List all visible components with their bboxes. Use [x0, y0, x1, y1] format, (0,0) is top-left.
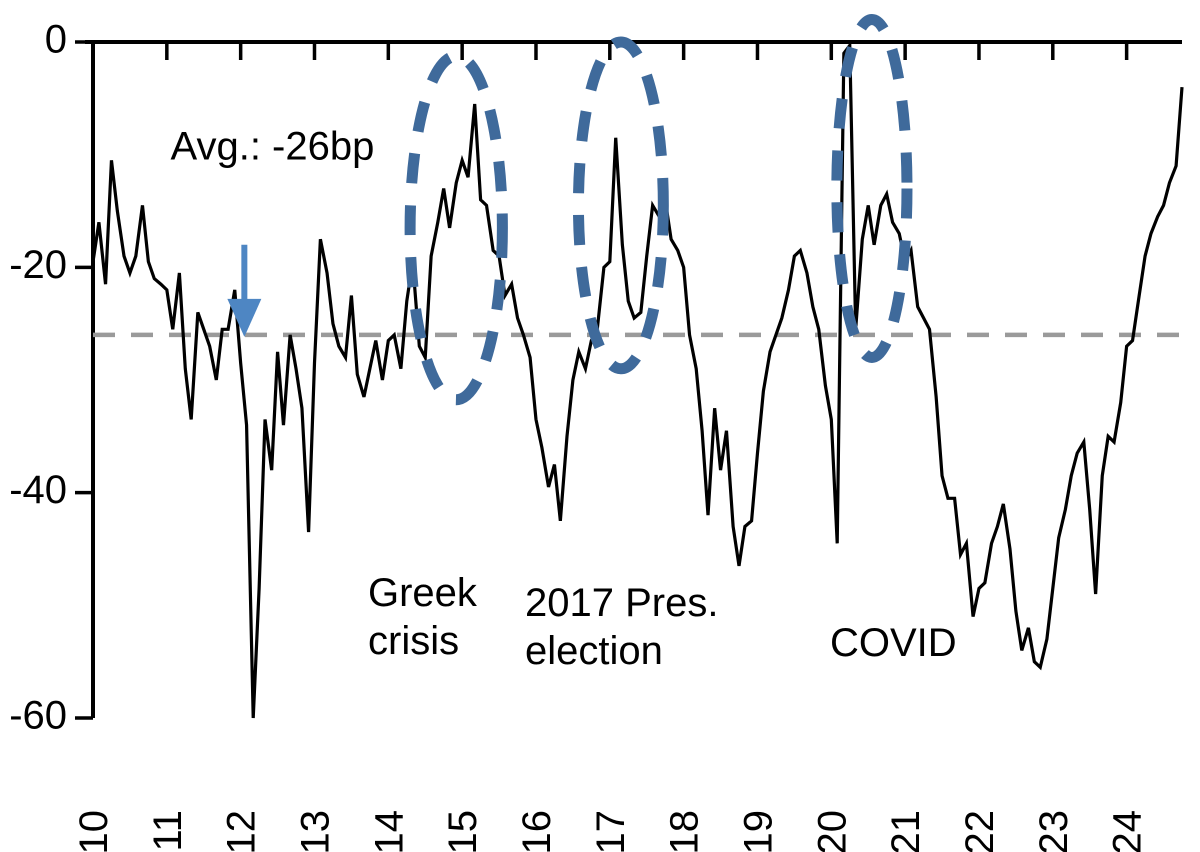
x-tick-label: 2015: [441, 810, 485, 852]
annotation-label-line: Greek: [368, 571, 478, 615]
x-tick-label: 2014: [367, 810, 411, 852]
annotation-label-line: COVID: [830, 621, 957, 665]
annotation-label-line: 2017 Pres.: [525, 581, 718, 625]
x-tick-label: 2013: [293, 810, 337, 852]
y-tick-label: -20: [9, 243, 67, 287]
x-tick-label: 2024: [1106, 810, 1150, 852]
y-tick-label: 0: [45, 18, 67, 62]
arrow-head-icon: [227, 299, 261, 337]
annotation-label-pres-election-2017: 2017 Pres.election: [525, 581, 718, 673]
annotation-ellipse-covid: [837, 19, 907, 357]
annotation-label-greek-crisis: Greekcrisis: [368, 571, 478, 663]
annotation-label-line: crisis: [368, 619, 459, 663]
y-tick-label: -40: [9, 468, 67, 512]
average-callout-label: Avg.: -26bp: [171, 125, 375, 169]
x-tick-label: 2022: [958, 810, 1002, 852]
annotation-label-line: election: [525, 629, 663, 673]
x-tick-label: 2021: [884, 810, 928, 852]
x-tick-label: 2011: [146, 810, 190, 852]
x-tick-label: 2010: [72, 810, 116, 852]
x-tick-label: 2012: [220, 810, 264, 852]
annotation-label-covid: COVID: [830, 621, 957, 665]
x-tick-label: 2023: [1032, 810, 1076, 852]
x-tick-label: 2020: [810, 810, 854, 852]
x-tick-label: 2018: [663, 810, 707, 852]
x-tick-label: 2019: [736, 810, 780, 852]
average-arrow-annotation: [227, 245, 261, 337]
y-tick-label: -60: [9, 694, 67, 738]
x-tick-label: 2017: [589, 810, 633, 852]
annotation-ellipse-layer: [410, 19, 907, 399]
x-tick-label: 2016: [515, 810, 559, 852]
chart-container: Greekcrisis2017 Pres.electionCOVIDAvg.: …: [0, 0, 1200, 852]
line-chart: Greekcrisis2017 Pres.electionCOVIDAvg.: …: [0, 0, 1200, 852]
